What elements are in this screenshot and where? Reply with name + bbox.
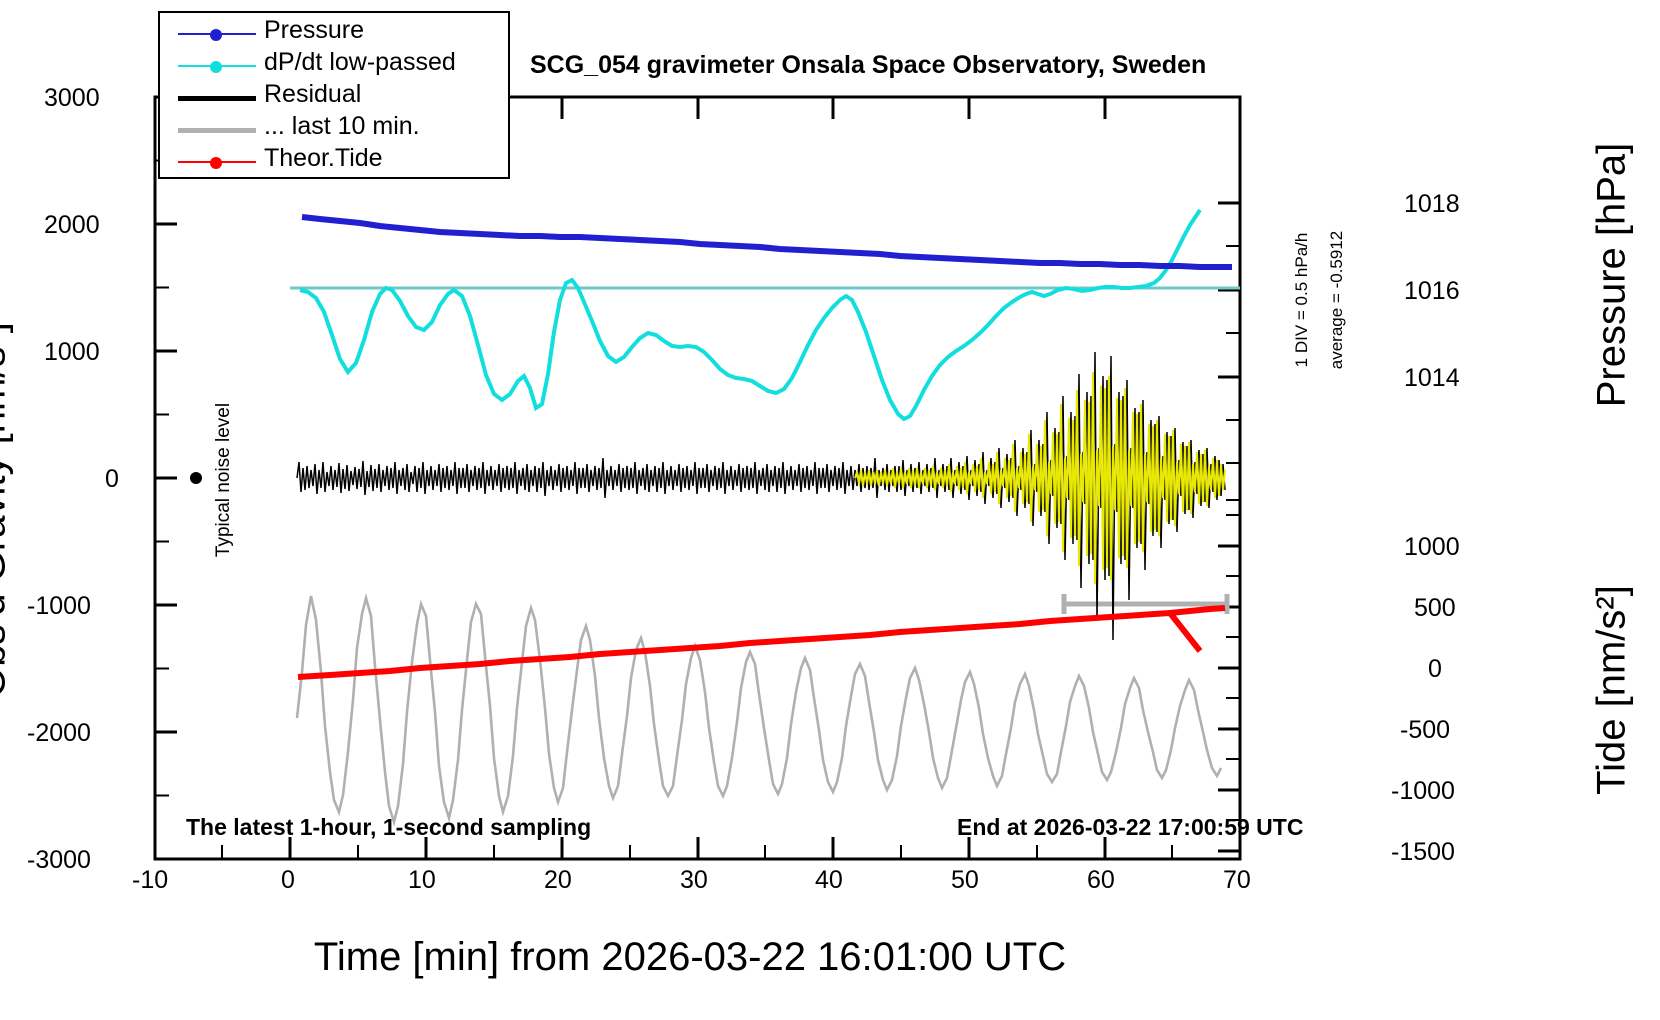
legend-item-dpdt[interactable]: dP/dt low-passed [160, 51, 508, 83]
x-tick-70: 70 [1223, 866, 1251, 895]
legend-item-pressure[interactable]: Pressure [160, 19, 508, 51]
legend: Pressure dP/dt low-passed Residual ... l… [158, 11, 510, 179]
y-tick-m2000: -2000 [27, 719, 91, 748]
legend-line-residual [178, 96, 256, 101]
typical-noise-level-marker [190, 472, 202, 484]
y-tick-0: 0 [105, 465, 119, 494]
tide-tick-m1000: -1000 [1391, 777, 1455, 806]
y-tick-m3000: -3000 [27, 846, 91, 875]
page-title: SCG_054 gravimeter Onsala Space Observat… [530, 51, 1206, 80]
tide-tick-500: 500 [1414, 594, 1456, 623]
pressure-tick-1016: 1016 [1404, 277, 1460, 306]
y-tick-3000: 3000 [44, 84, 100, 113]
x-tick-20: 20 [544, 866, 572, 895]
y-tick-m1000: -1000 [27, 592, 91, 621]
legend-item-residual[interactable]: Residual [160, 83, 508, 115]
x-tick-50: 50 [951, 866, 979, 895]
legend-label-dpdt: dP/dt low-passed [264, 48, 456, 77]
div-scale-label: 1 DIV = 0.5 hPa/h [1292, 233, 1312, 368]
legend-label-residual: Residual [264, 80, 361, 109]
tide-tick-1000: 1000 [1404, 533, 1460, 562]
pressure-rate-scale-bar [1253, 115, 1285, 481]
x-tick-40: 40 [815, 866, 843, 895]
y-tick-1000: 1000 [44, 338, 100, 367]
y-axis-label-tide: Tide [nm/s²] [1590, 585, 1635, 795]
legend-line-last10 [178, 128, 256, 133]
x-axis-label: Time [min] from 2026-03-22 16:01:00 UTC [314, 935, 1066, 980]
pressure-tick-1014: 1014 [1404, 364, 1460, 393]
legend-item-theor-tide[interactable]: Theor.Tide [160, 147, 508, 179]
tide-tick-0: 0 [1428, 655, 1442, 684]
tide-tick-m1500: -1500 [1391, 838, 1455, 867]
legend-marker-pressure [210, 29, 222, 41]
end-time-note: End at 2026-03-22 17:00:59 UTC [957, 814, 1303, 841]
tide-tick-m500: -500 [1400, 716, 1450, 745]
sampling-note: The latest 1-hour, 1-second sampling [186, 814, 591, 841]
x-tick-10: 10 [408, 866, 436, 895]
x-tick-30: 30 [680, 866, 708, 895]
typical-noise-level-label: Typical noise level [213, 403, 235, 557]
x-tick-60: 60 [1087, 866, 1115, 895]
legend-label-pressure: Pressure [264, 16, 364, 45]
y-axis-label-left: Obs’d Gravity [nm/s²] [0, 322, 15, 698]
pressure-tick-1018: 1018 [1404, 190, 1460, 219]
legend-marker-dpdt [210, 61, 222, 73]
legend-label-last10: ... last 10 min. [264, 112, 420, 141]
y-tick-2000: 2000 [44, 211, 100, 240]
legend-label-theor-tide: Theor.Tide [264, 144, 383, 173]
y-axis-label-pressure: Pressure [hPa] [1590, 143, 1635, 408]
legend-marker-theor-tide [210, 157, 222, 169]
x-tick-0: 0 [281, 866, 295, 895]
legend-item-last10[interactable]: ... last 10 min. [160, 115, 508, 147]
average-label: average = -0.5912 [1327, 231, 1347, 369]
x-tick-m10: -10 [132, 866, 168, 895]
